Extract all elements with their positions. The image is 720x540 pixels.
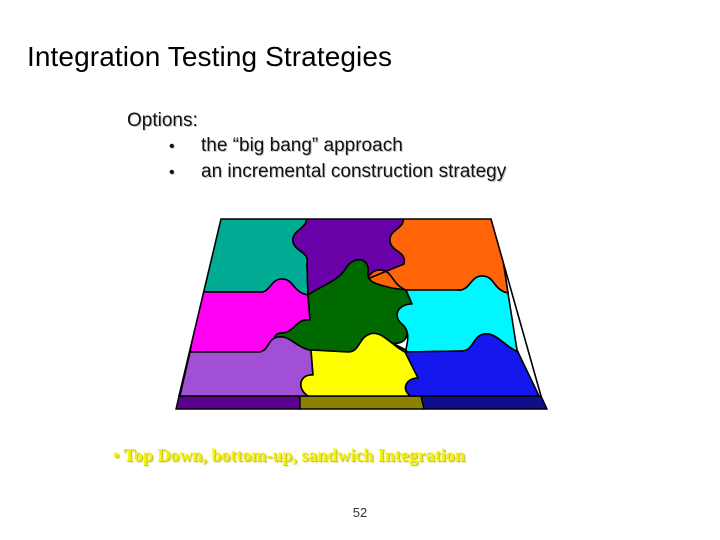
bullet-text-incremental: an incremental construction strategy [201, 159, 506, 184]
footer-note-text: • Top Down, bottom-up, sandwich Integrat… [113, 444, 633, 466]
jigsaw-puzzle-svg [160, 200, 560, 420]
jigsaw-puzzle-graphic [160, 200, 560, 420]
slide-canvas: Integration Testing Strategies Options: … [0, 0, 720, 540]
front-edge-right-navy [421, 396, 547, 409]
page-title: Integration Testing Strategies [27, 40, 687, 74]
puzzle-front-edge [176, 396, 547, 409]
puzzle-pieces [179, 214, 541, 400]
body-text-block: Options: • the “big bang” approach • an … [127, 108, 647, 185]
list-item: • the “big bang” approach [127, 133, 647, 159]
page-number: 52 [0, 505, 720, 521]
bullet-glyph-icon: • [169, 160, 201, 185]
bullet-glyph-icon: • [169, 134, 201, 159]
options-heading: Options: [127, 108, 647, 133]
puzzle-piece-r1c1-teal [201, 214, 308, 295]
list-item: • an incremental construction strategy [127, 159, 647, 185]
front-edge-mid-olive [300, 396, 424, 409]
front-edge-left-dark-purple [176, 396, 300, 409]
bullet-text-big-bang: the “big bang” approach [201, 133, 403, 158]
